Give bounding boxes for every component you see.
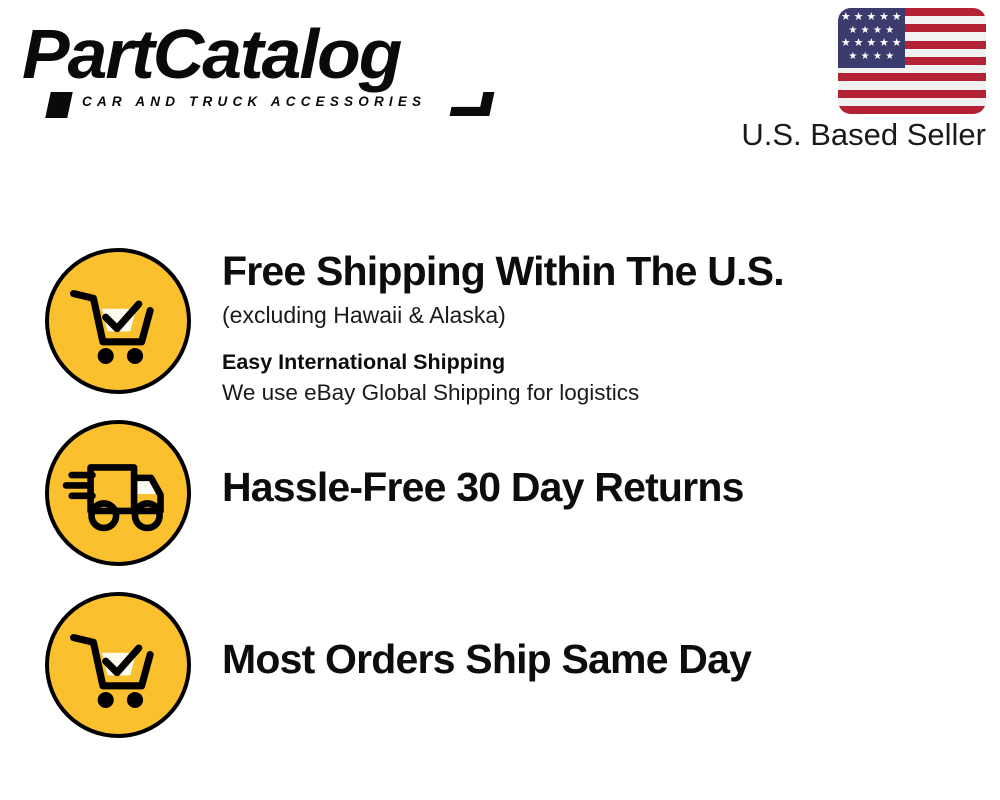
logo-descender-left bbox=[45, 92, 73, 118]
feature-text-same-day: Most Orders Ship Same Day bbox=[222, 636, 982, 682]
feature-subline: (excluding Hawaii & Alaska) bbox=[222, 300, 982, 331]
feature-row-returns: Hassle-Free 30 Day Returns bbox=[0, 420, 1000, 570]
feature-row-shipping: Free Shipping Within The U.S. (excluding… bbox=[0, 248, 1000, 408]
brand-wordmark: PartCatalog bbox=[22, 18, 501, 90]
us-flag-badge: ★★ ★★ ★ ★★ ★★ ★★ ★★ ★ ★★ ★★ bbox=[838, 8, 986, 114]
cart-check-icon bbox=[45, 592, 191, 738]
feature-text-returns: Hassle-Free 30 Day Returns bbox=[222, 464, 982, 510]
cart-check-icon bbox=[45, 248, 191, 394]
us-based-seller-label: U.S. Based Seller bbox=[586, 117, 986, 153]
feature-text-shipping: Free Shipping Within The U.S. (excluding… bbox=[222, 248, 982, 408]
page-header: PartCatalog CAR AND TRUCK ACCESSORIES ★★… bbox=[0, 0, 1000, 170]
brand-logo[interactable]: PartCatalog CAR AND TRUCK ACCESSORIES bbox=[22, 18, 492, 118]
feature-headline: Most Orders Ship Same Day bbox=[222, 636, 982, 682]
brand-tagline: CAR AND TRUCK ACCESSORIES bbox=[82, 94, 426, 109]
feature-subheading: Easy International Shipping bbox=[222, 348, 982, 376]
logo-descender-right bbox=[449, 92, 494, 116]
feature-headline: Hassle-Free 30 Day Returns bbox=[222, 464, 982, 510]
feature-row-same-day: Most Orders Ship Same Day bbox=[0, 592, 1000, 742]
feature-headline: Free Shipping Within The U.S. bbox=[222, 248, 982, 294]
feature-subheading-note: We use eBay Global Shipping for logistic… bbox=[222, 378, 982, 408]
us-flag-icon: ★★ ★★ ★ ★★ ★★ ★★ ★★ ★ ★★ ★★ bbox=[838, 8, 986, 114]
delivery-truck-icon bbox=[45, 420, 191, 566]
flag-canton: ★★ ★★ ★ ★★ ★★ ★★ ★★ ★ ★★ ★★ bbox=[838, 8, 905, 68]
